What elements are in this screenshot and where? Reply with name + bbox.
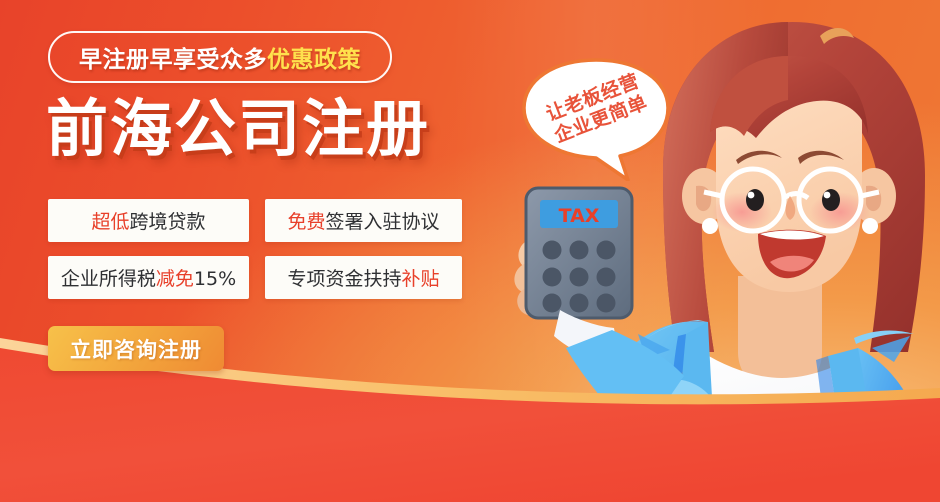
feature-row-2: 企业所得税减免15% 专项资金扶持补贴: [48, 256, 462, 299]
consult-now-button-label: 立即咨询注册: [70, 334, 202, 364]
promo-badge-highlight: 优惠政策: [267, 47, 361, 73]
feature-rest: 跨境贷款: [130, 211, 206, 233]
feature-box-special-subsidy[interactable]: 专项资金扶持补贴: [265, 256, 462, 299]
feature-highlight: 免费: [287, 211, 325, 233]
promo-banner: TAX: [0, 0, 940, 502]
feature-text: 专项资金扶持补贴: [287, 264, 439, 291]
feature-text: 企业所得税减免15%: [61, 264, 236, 291]
feature-rest: 15%: [194, 268, 236, 290]
speech-bubble: 让老板经营 企业更简单: [516, 56, 676, 181]
feature-highlight: 补贴: [402, 268, 440, 290]
feature-text: 免费签署入驻协议: [287, 207, 439, 234]
feature-box-tax-reduction[interactable]: 企业所得税减免15%: [48, 256, 249, 299]
consult-now-button[interactable]: 立即咨询注册: [48, 326, 224, 371]
svg-text:TAX: TAX: [559, 205, 600, 227]
promo-badge-text: 早注册早享受众多优惠政策: [79, 40, 361, 74]
feature-rest: 签署入驻协议: [326, 211, 440, 233]
promo-badge: 早注册早享受众多优惠政策: [48, 31, 392, 83]
feature-prefix: 专项资金扶持: [287, 268, 401, 290]
promo-badge-plain: 早注册早享受众多: [79, 47, 267, 73]
feature-highlight: 减免: [156, 268, 194, 290]
feature-row-1: 超低跨境贷款 免费签署入驻协议: [48, 199, 462, 242]
feature-text: 超低跨境贷款: [91, 207, 205, 234]
feature-list: 超低跨境贷款 免费签署入驻协议 企业所得税减免15% 专项资金扶持补贴: [48, 199, 462, 299]
feature-prefix: 企业所得税: [61, 268, 156, 290]
feature-box-free-agreement[interactable]: 免费签署入驻协议: [265, 199, 462, 242]
page-title: 前海公司注册: [46, 98, 430, 160]
feature-highlight: 超低: [91, 211, 129, 233]
feature-box-low-rate-loan[interactable]: 超低跨境贷款: [48, 199, 249, 242]
